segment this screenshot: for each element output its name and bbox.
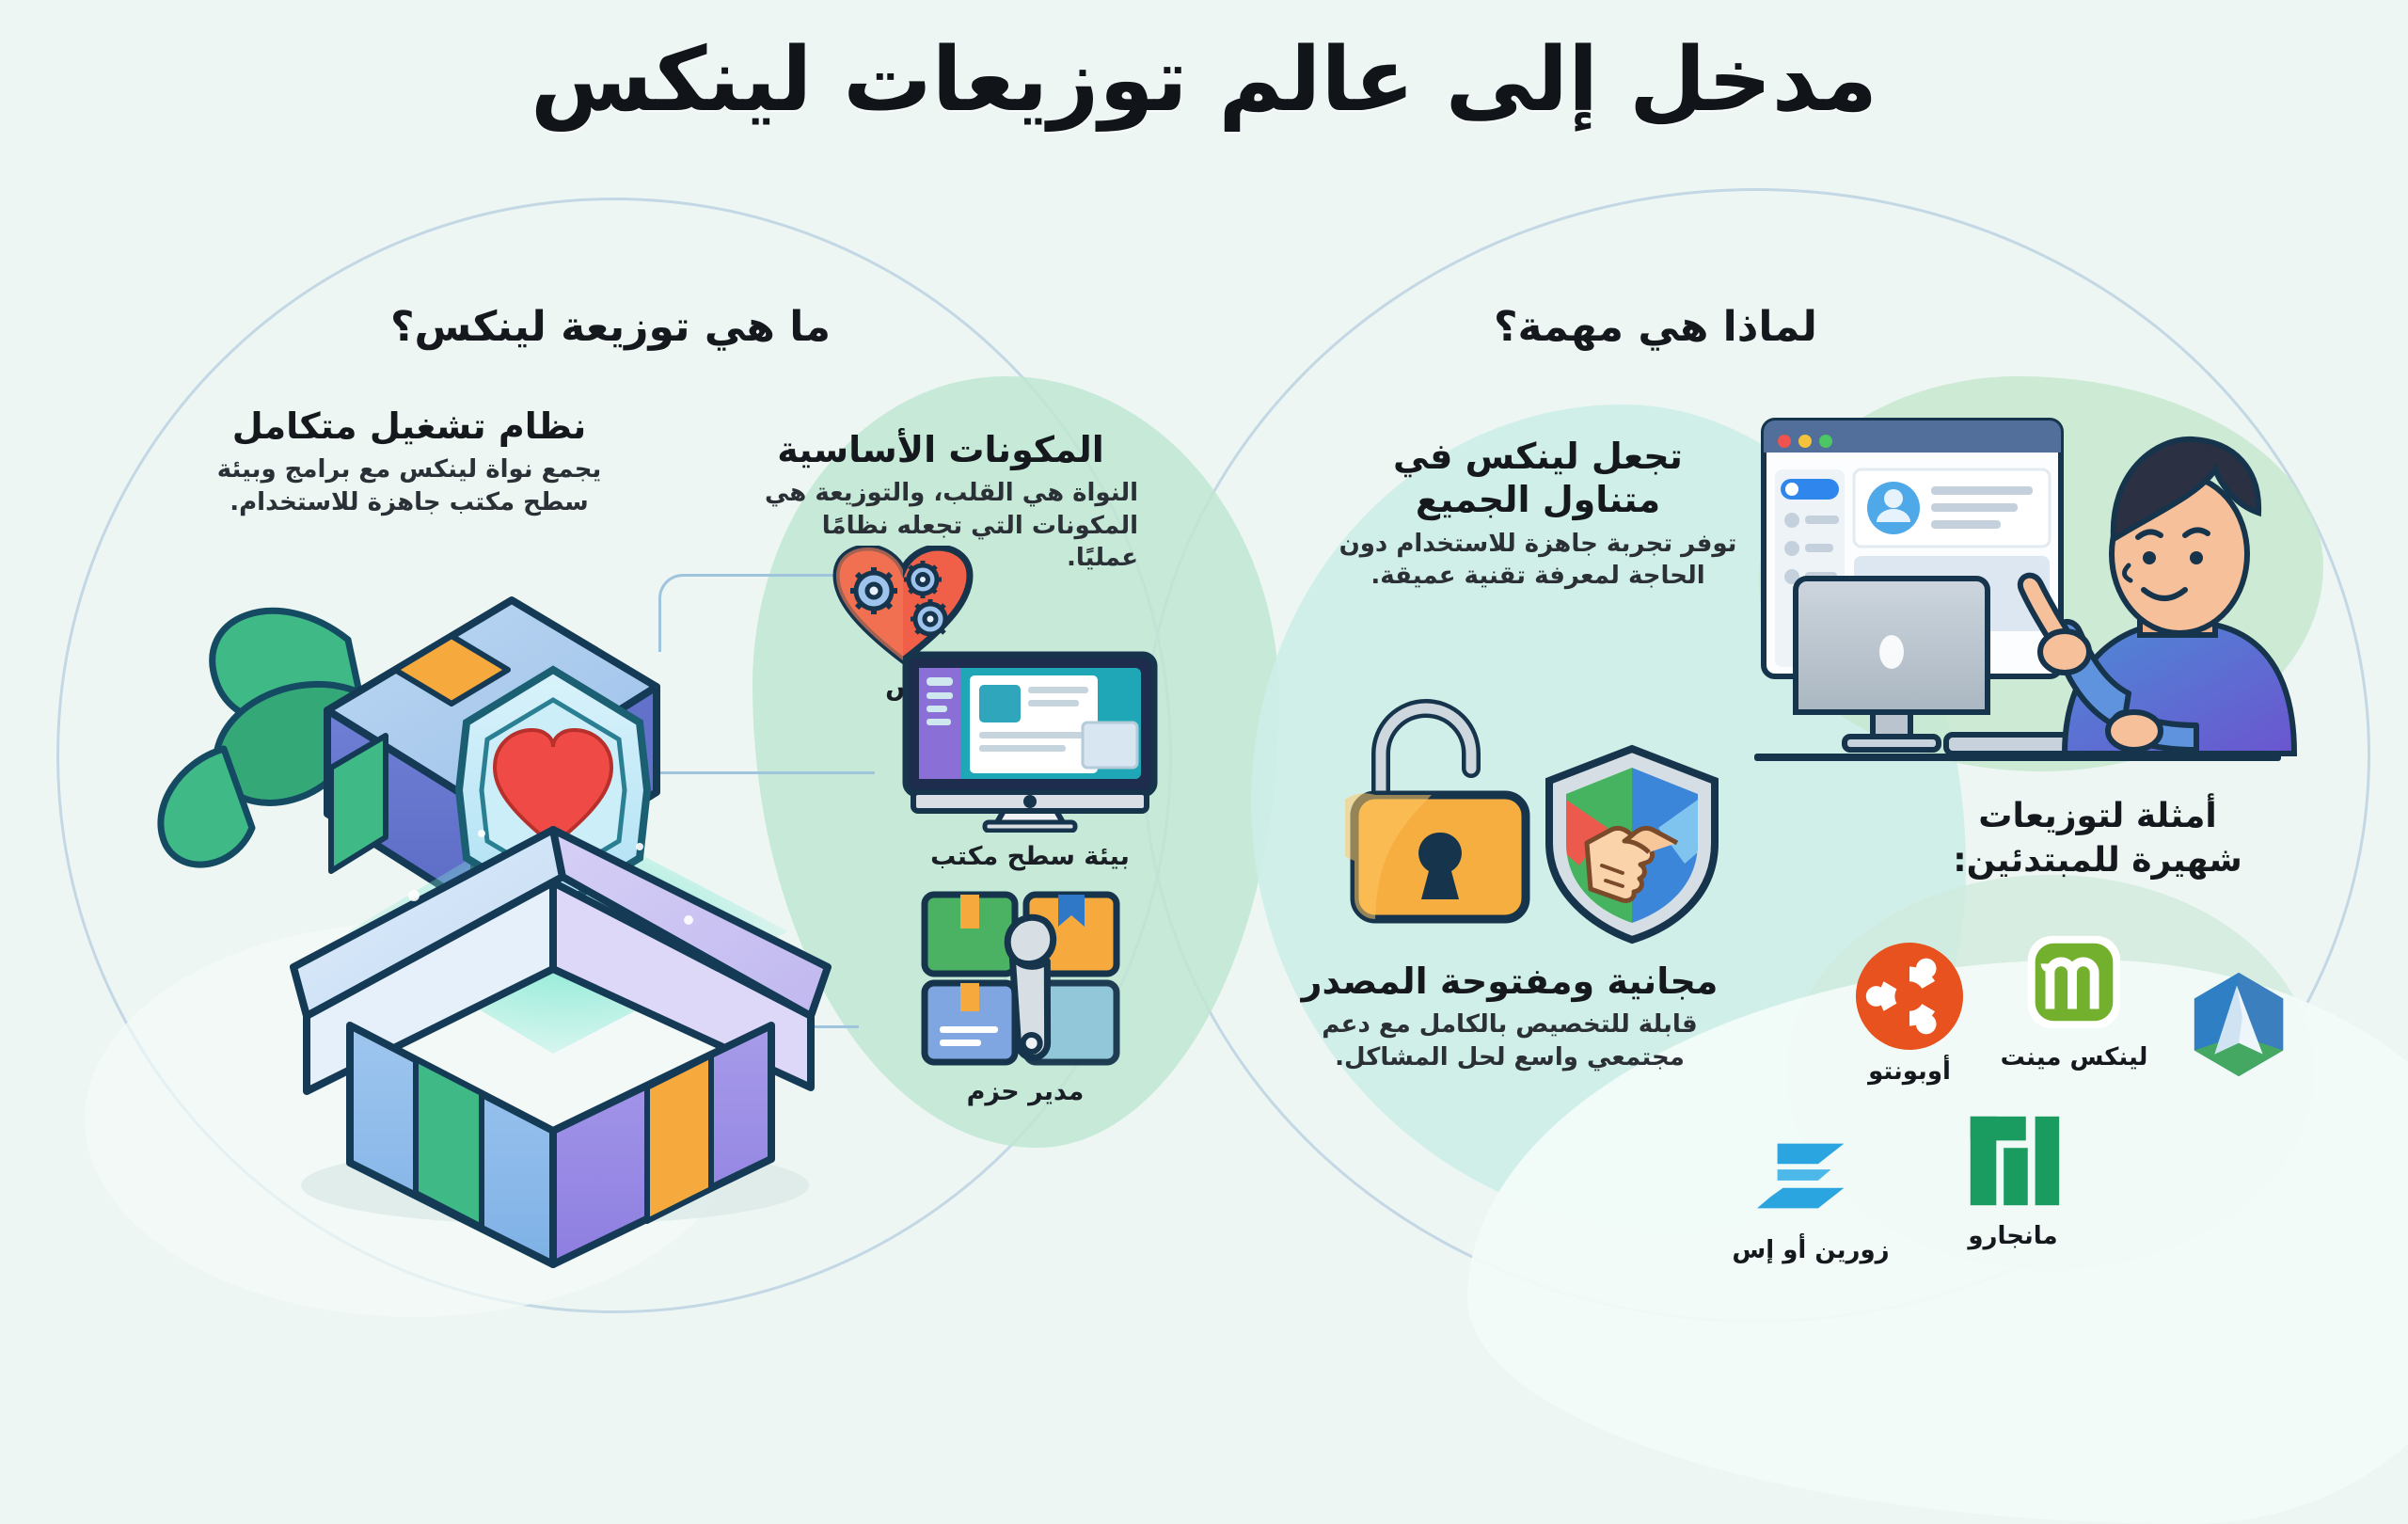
distro-name-manjaro: مانجارو (1928, 1222, 2098, 1250)
ubuntu-logo-icon (1854, 941, 1965, 1052)
infographic-canvas: مدخل إلى عالم توزيعات لينكس ما هي توزيعة… (0, 0, 2408, 1308)
section-header-why-matter: لماذا هي مهمة؟ (1494, 303, 1817, 351)
manjaro-logo-icon (1957, 1105, 2068, 1216)
distro-name-zorin-os: زورين أو إس (1726, 1236, 1895, 1264)
heading-accessible: تجعل لينكس في متناول الجميع (1336, 435, 1740, 522)
body-complete-os: يجمع نواة لينكس مع برامج وبيئة سطح مكتب … (188, 453, 630, 518)
distro-name-linux-mint: لينكس مينت (1989, 1043, 2159, 1072)
linux-mint-logo-icon (2019, 927, 2130, 1038)
body-accessible: توفر تجربة جاهزة للاستخدام دون الحاجة لم… (1336, 528, 1740, 593)
heading-complete-os: نظام تشغيل متكامل (188, 405, 630, 448)
shield-handshake-icon (1538, 743, 1726, 945)
heading-core-components: المكونات الأساسية (743, 428, 1138, 471)
person-at-computer-icon (1754, 400, 2337, 776)
distro-ubuntu: أوبونتو (1825, 941, 1994, 1086)
caption-package-manager: مدير حزم (908, 1077, 1143, 1107)
distro-zorin-os: زورين أو إس (1726, 1119, 1895, 1264)
distro-arch (2154, 969, 2323, 1086)
open-gift-box-icon (113, 527, 903, 1279)
open-padlock-icon (1345, 691, 1547, 931)
text-block-free-open-source: مجانية ومفتوحة المصدر قابلة للتخصيص بالك… (1289, 960, 1731, 1073)
arch-logo-icon (2183, 969, 2294, 1080)
text-block-complete-os: نظام تشغيل متكامل يجمع نواة لينكس مع برا… (188, 405, 630, 518)
body-free-open-source: قابلة للتخصيص بالكامل مع دعم مجتمعي واسع… (1289, 1008, 1731, 1073)
text-block-accessible: تجعل لينكس في متناول الجميع توفر تجربة ج… (1336, 435, 1740, 592)
desktop-monitor-icon (898, 649, 1162, 833)
heading-free-open-source: مجانية ومفتوحة المصدر (1289, 960, 1731, 1003)
distro-manjaro: مانجارو (1928, 1105, 2098, 1250)
distro-linux-mint: لينكس مينت (1989, 927, 2159, 1072)
text-block-examples: أمثلة لتوزيعات شهيرة للمبتدئين: (1938, 795, 2257, 889)
packages-wrench-icon (917, 889, 1148, 1068)
section-header-what-is: ما هي توزيعة لينكس؟ (390, 303, 831, 351)
page-title: مدخل إلى عالم توزيعات لينكس (0, 32, 2408, 129)
caption-desktop-environment: بيئة سطح مكتب (908, 842, 1152, 872)
distro-name-ubuntu: أوبونتو (1825, 1057, 1994, 1086)
heading-examples: أمثلة لتوزيعات شهيرة للمبتدئين: (1938, 795, 2257, 883)
zorin-logo-icon (1755, 1119, 1866, 1230)
